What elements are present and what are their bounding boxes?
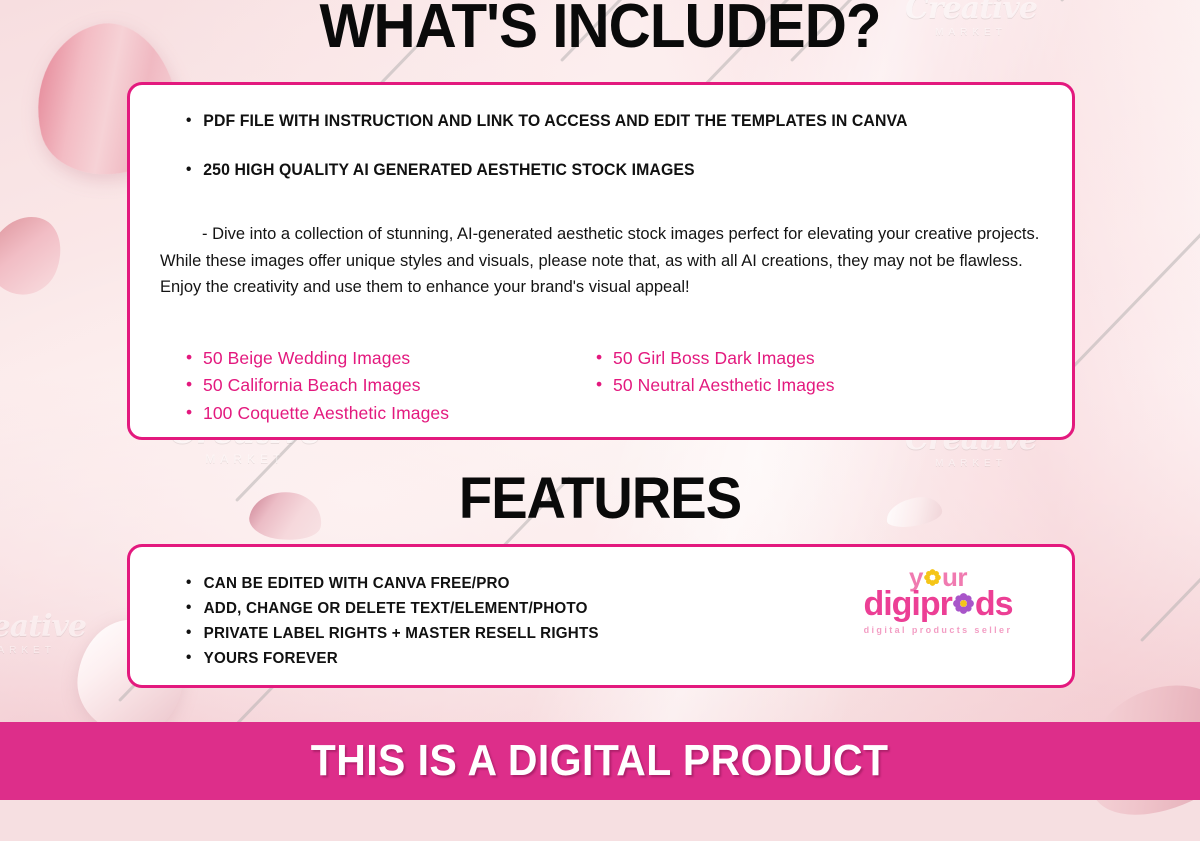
list-item: CAN BE EDITED WITH CANVA FREE/PRO [186, 571, 599, 596]
page-title-whats-included: WHAT'S INCLUDED? [36, 0, 1164, 58]
digital-product-banner: THIS IS A DIGITAL PRODUCT [0, 722, 1200, 800]
list-item: PDF FILE WITH INSTRUCTION AND LINK TO AC… [186, 111, 1008, 133]
list-item: 50 Beige Wedding Images [186, 345, 538, 372]
included-card: PDF FILE WITH INSTRUCTION AND LINK TO AC… [127, 82, 1075, 440]
features-list: CAN BE EDITED WITH CANVA FREE/PRO ADD, C… [186, 571, 607, 671]
list-item: 50 California Beach Images [186, 372, 538, 399]
list-item: ADD, CHANGE OR DELETE TEXT/ELEMENT/PHOTO [186, 596, 599, 621]
brand-logo-ds: ds [975, 588, 1013, 620]
page-title-features: FEATURES [36, 470, 1164, 528]
banner-text: THIS IS A DIGITAL PRODUCT [311, 736, 889, 786]
flower-icon-yellow [924, 569, 941, 586]
image-packs-column-right: 50 Girl Boss Dark Images 50 Neutral Aest… [596, 345, 948, 427]
brand-logo-digipr: digipr [863, 588, 951, 620]
image-packs-columns: 50 Beige Wedding Images 50 California Be… [186, 345, 1042, 427]
list-item: PRIVATE LABEL RIGHTS + MASTER RESELL RIG… [186, 621, 599, 646]
included-bullet-list: PDF FILE WITH INSTRUCTION AND LINK TO AC… [186, 111, 1042, 182]
list-item: YOURS FOREVER [186, 646, 599, 671]
features-card: CAN BE EDITED WITH CANVA FREE/PRO ADD, C… [127, 544, 1075, 688]
list-item: 100 Coquette Aesthetic Images [186, 400, 538, 427]
poster-content: WHAT'S INCLUDED? PDF FILE WITH INSTRUCTI… [0, 0, 1200, 800]
list-item: 50 Girl Boss Dark Images [596, 345, 948, 372]
list-item: 250 HIGH QUALITY AI GENERATED AESTHETIC … [186, 160, 1008, 182]
image-packs-column-left: 50 Beige Wedding Images 50 California Be… [186, 345, 538, 427]
brand-logo-line-digiprods: digipr ds [848, 588, 1028, 620]
brand-logo: y ur digipr [848, 565, 1028, 635]
flower-icon-purple [953, 593, 974, 614]
brand-logo-tagline: digital products seller [848, 625, 1028, 635]
included-description-paragraph: - Dive into a collection of stunning, AI… [160, 221, 1046, 301]
list-item: 50 Neutral Aesthetic Images [596, 372, 948, 399]
